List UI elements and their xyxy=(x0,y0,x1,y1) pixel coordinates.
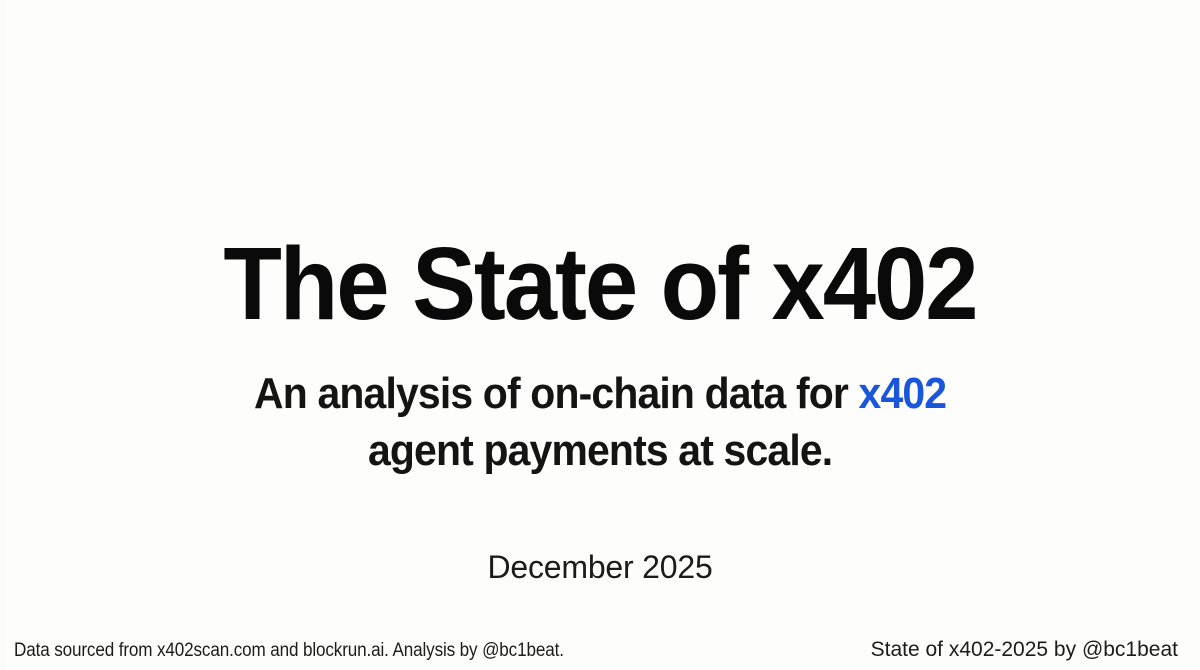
footer-attribution-caption: State of x402-2025 by @bc1beat xyxy=(871,639,1178,660)
slide-footer: Data sourced from x402scan.com and block… xyxy=(0,610,1200,670)
slide-date: December 2025 xyxy=(487,551,712,583)
page-subtitle: An analysis of on-chain data for x402 ag… xyxy=(254,365,946,479)
subtitle-accent-x402: x402 xyxy=(858,369,946,418)
footer-source-caption: Data sourced from x402scan.com and block… xyxy=(14,641,564,660)
subtitle-line1: An analysis of on-chain data for x402 xyxy=(254,369,946,418)
subtitle-line2: agent payments at scale. xyxy=(368,426,832,475)
subtitle-line1-text: An analysis of on-chain data for xyxy=(254,369,858,418)
page-title: The State of x402 xyxy=(223,232,976,335)
title-slide: The State of x402 An analysis of on-chai… xyxy=(0,0,1200,670)
slide-content-stage: The State of x402 An analysis of on-chai… xyxy=(0,0,1200,610)
